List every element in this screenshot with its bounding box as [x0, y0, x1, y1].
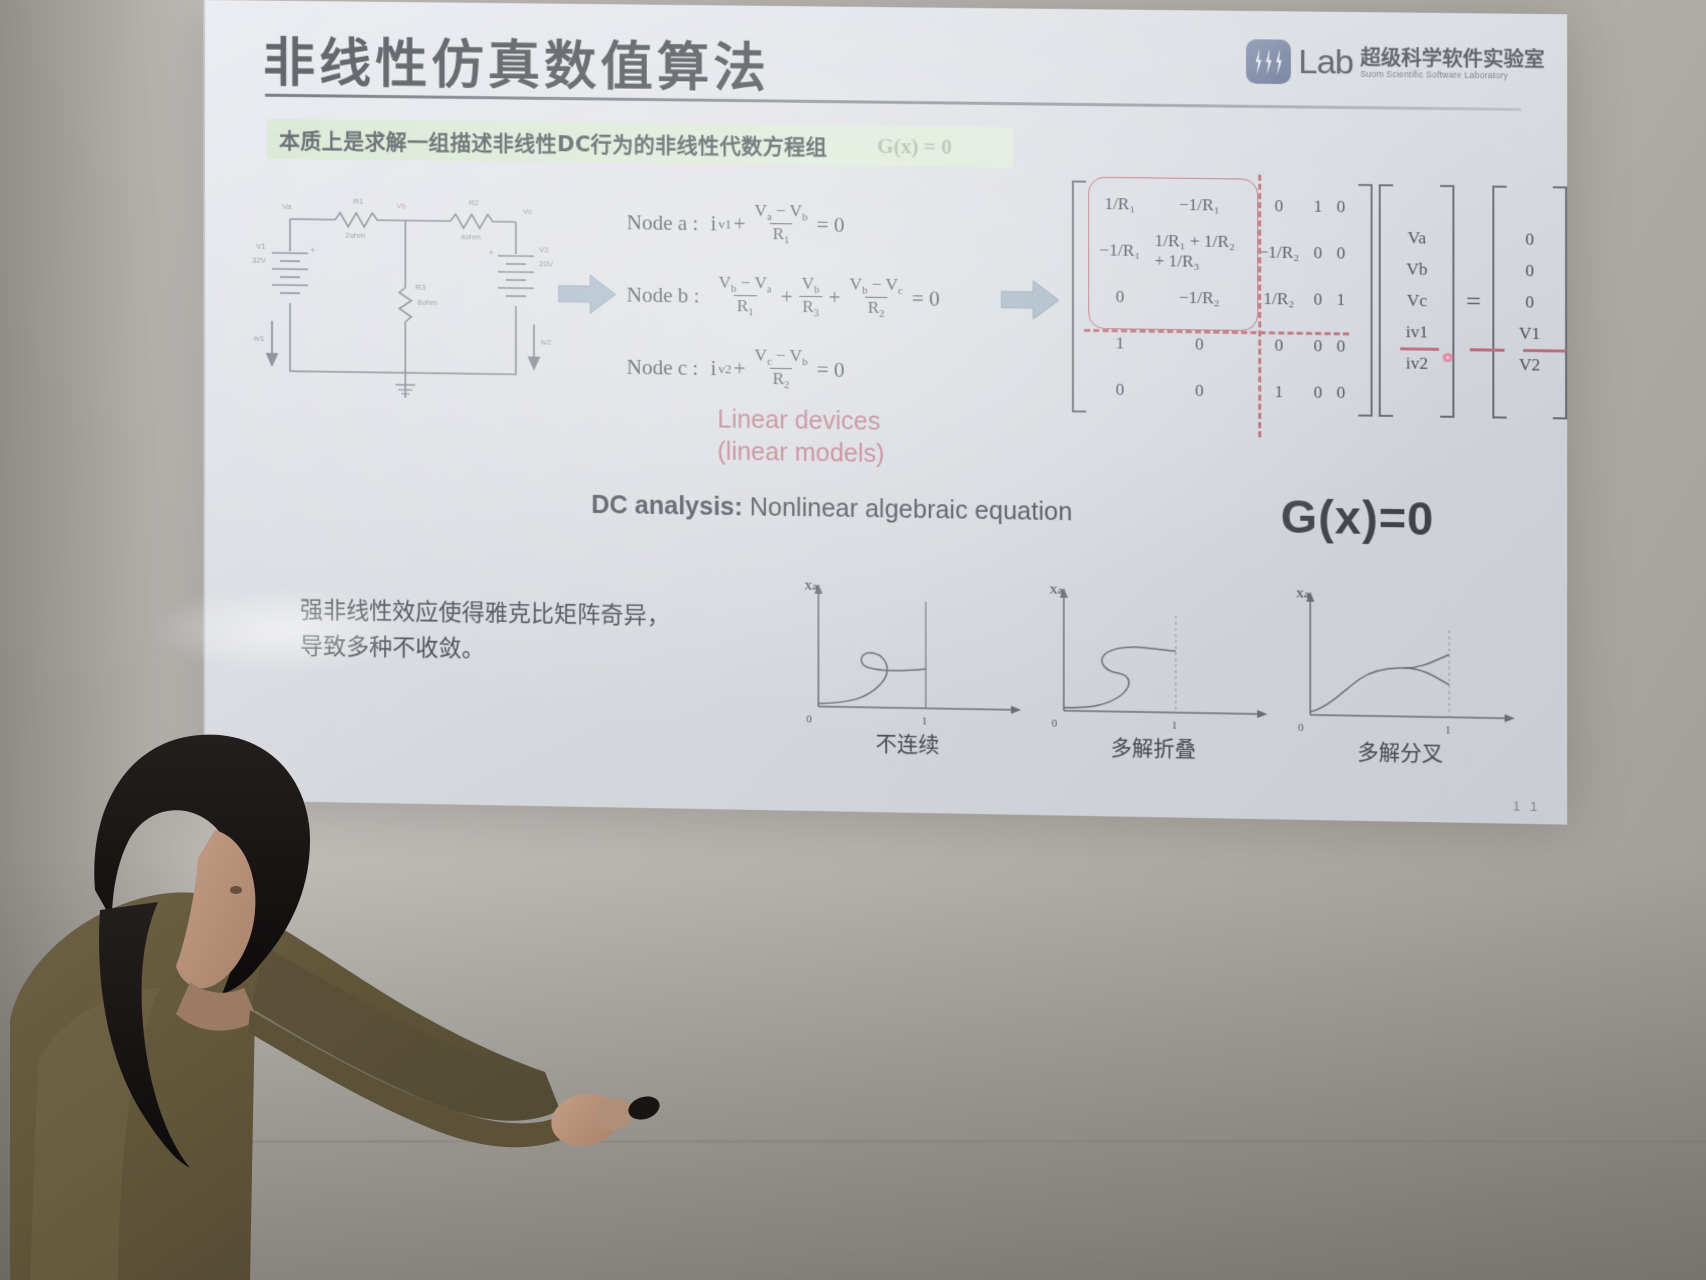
matrix-equation: 1/R₁ −1/R₁ 0 1 0 −1/R₁ 1/R₁ + 1/R₂ + 1/R… [1072, 180, 1567, 419]
vector-cell: Va [1400, 222, 1435, 254]
matrix-cell: 0 [1329, 370, 1352, 417]
logo-cn-name: 超级科学软件实验室 [1360, 47, 1544, 70]
logo-bolt-icon [1246, 39, 1291, 84]
graph-y-axis-label: Xa [804, 581, 818, 593]
matrix-cell: 0 [1306, 369, 1329, 416]
svg-text:V1: V1 [256, 242, 266, 251]
graph-y-axis-label: Xa [1050, 584, 1064, 596]
matrix-cell: 0 [1147, 321, 1251, 369]
vector-cell: Vc [1400, 285, 1435, 317]
convergence-failure-graphs: Xa 0 1 不连续 [788, 569, 1521, 763]
graph-x-max: 1 [922, 715, 928, 727]
laser-pointer-dot [1441, 353, 1454, 362]
vector-cell: 0 [1513, 255, 1547, 287]
matrix-cell: −1/R₁ [1092, 227, 1147, 274]
matrix-cell: 1/R₁ + 1/R₂ + 1/R₃ [1147, 228, 1251, 276]
graph-y-axis-label: Xa [1296, 588, 1310, 600]
rhs-vector-right-bracket [1553, 186, 1567, 419]
svg-text:+: + [310, 245, 315, 255]
arrow-right-icon-1 [558, 273, 616, 316]
matrix-cell: 0 [1329, 230, 1352, 277]
graph-discontinuous: Xa 0 1 不连续 [788, 569, 1027, 754]
svg-text:4ohm: 4ohm [461, 232, 481, 241]
vector-partition-mark-1 [1400, 347, 1439, 350]
vector-cell: V2 [1513, 349, 1547, 381]
matrix-cell: 1 [1329, 277, 1352, 324]
svg-text:R2: R2 [469, 198, 480, 207]
title-underline [265, 94, 1521, 111]
graph-x-max: 1 [1445, 724, 1451, 736]
screenshot-root: 非线性仿真数值算法 Lab 超级科学软件实验室 Suom Scientific … [0, 0, 1706, 1280]
matrix-cell: −1/R₂ [1147, 274, 1251, 322]
svg-text:8ohm: 8ohm [417, 298, 437, 307]
svg-text:Vb: Vb [396, 201, 406, 210]
matrix-left-bracket [1072, 180, 1086, 412]
rhs-vector: 0 0 0 V1 V2 [1513, 224, 1547, 381]
matrix-cell: 1/R₁ [1092, 181, 1147, 228]
graph-caption: 多解折叠 [1033, 730, 1273, 764]
svg-text:Va: Va [282, 202, 292, 211]
logo-lab-text: Lab [1298, 42, 1353, 82]
vector-partition-mark-2 [1470, 348, 1505, 351]
slide-page-number: 1 1 [1513, 798, 1541, 814]
matrix-right-bracket [1359, 184, 1373, 417]
page-title: 非线性仿真数值算法 [263, 21, 770, 102]
vector-cell: iv2 [1400, 348, 1435, 380]
svg-text:iv2: iv2 [541, 338, 552, 347]
lab-logo: Lab 超级科学软件实验室 Suom Scientific Software L… [1246, 39, 1544, 87]
matrix-cell: 1 [1092, 320, 1147, 367]
matrix-cell: 0 [1329, 184, 1352, 231]
banner-equation: G(x) = 0 [877, 134, 952, 160]
matrix-cell: 0 [1306, 230, 1329, 277]
vector-cell: 0 [1513, 224, 1547, 256]
graph-x-min: 0 [1298, 722, 1304, 734]
equation-node-b: Node b : Vb − VaR1 + VbR3 + Vb − VcR2 = … [627, 272, 971, 323]
presenter-figure [0, 590, 700, 1280]
graph-multi-solution-bifurcation: Xa 0 1 多解分叉 [1280, 577, 1521, 763]
matrix-cell: 0 [1092, 274, 1147, 321]
node-equations: Node a : iv1 + Va − VbR1 = 0 Node b : Vb… [627, 200, 971, 422]
dc-analysis-caption: DC analysis: Nonlinear algebraic equatio… [591, 491, 1072, 527]
graph-x-min: 0 [1052, 718, 1058, 730]
linear-models-note: (linear models) [717, 437, 884, 469]
svg-text:R1: R1 [353, 197, 364, 206]
svg-text:32V: 32V [252, 256, 267, 265]
rhs-vector-left-bracket [1492, 186, 1506, 419]
dc-analysis-rest: Nonlinear algebraic equation [743, 493, 1073, 526]
circuit-diagram: Va R1 2ohm Vb R2 4ohm Vc V1 32V V2 20V R… [250, 191, 581, 411]
system-matrix: 1/R₁ −1/R₁ 0 1 0 −1/R₁ 1/R₁ + 1/R₂ + 1/R… [1092, 181, 1352, 417]
dc-analysis-bold: DC analysis: [591, 491, 742, 521]
equation-node-a: Node a : iv1 + Va − VbR1 = 0 [627, 200, 971, 251]
vector-cell: Vb [1400, 254, 1435, 286]
graph-caption: 不连续 [788, 726, 1027, 760]
graph-caption: 多解分叉 [1280, 735, 1521, 770]
linear-devices-note: Linear devices [717, 405, 880, 437]
vector-cell: iv1 [1400, 316, 1435, 348]
matrix-cell: 0 [1306, 323, 1329, 370]
equation-node-c: Node c : iv2 + Vc − VbR2 = 0 [627, 345, 971, 396]
svg-text:V2: V2 [539, 245, 549, 254]
svg-text:20V: 20V [539, 259, 554, 268]
svg-text:2ohm: 2ohm [345, 231, 365, 240]
svg-text:+: + [489, 248, 494, 258]
unknown-vector-left-bracket [1379, 184, 1393, 417]
equals-sign: = [1466, 286, 1481, 317]
svg-text:Vc: Vc [523, 207, 532, 216]
graph-x-min: 0 [806, 713, 812, 725]
arrow-right-icon-2 [1001, 278, 1060, 321]
partition-vertical-dashed [1259, 175, 1262, 438]
gx-equation-label: G(x)=0 [1281, 489, 1435, 546]
matrix-cell: 1 [1306, 183, 1329, 230]
svg-text:R3: R3 [415, 283, 426, 292]
matrix-cell: 0 [1147, 367, 1251, 415]
matrix-cell: 0 [1306, 276, 1329, 323]
unknown-vector-right-bracket [1440, 185, 1454, 418]
matrix-cell: 0 [1329, 323, 1352, 370]
svg-text:iv1: iv1 [254, 334, 265, 343]
graph-multi-solution-fold: Xa 0 1 多解折叠 [1033, 573, 1273, 759]
matrix-cell: 0 [1092, 366, 1147, 413]
vector-cell: 0 [1513, 287, 1547, 319]
unknown-vector: Va Vb Vc iv1 iv2 [1400, 222, 1435, 379]
matrix-cell: −1/R₁ [1147, 181, 1251, 229]
vector-cell: V1 [1513, 318, 1547, 350]
graph-x-max: 1 [1172, 720, 1178, 732]
